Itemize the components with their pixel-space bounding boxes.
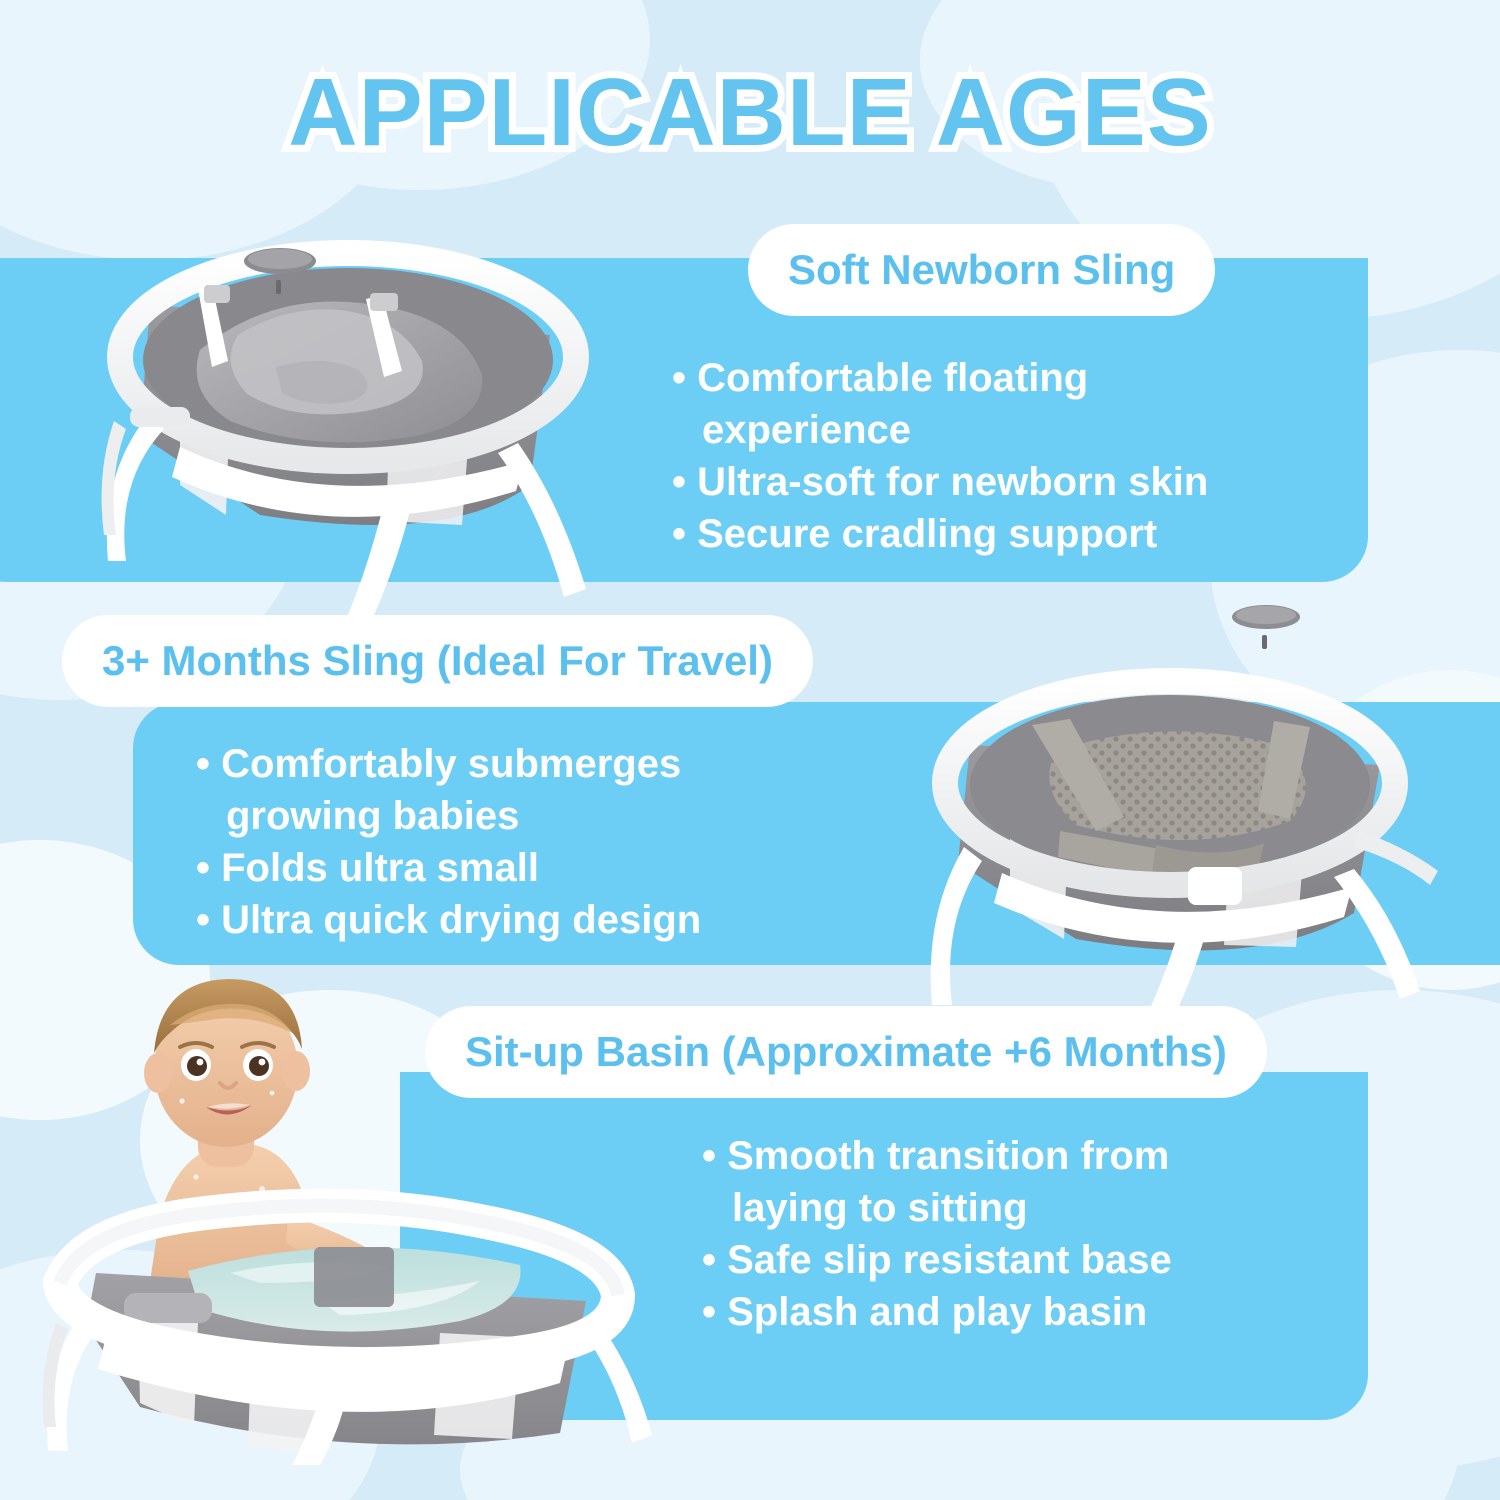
bullet-list-three-months: • Comfortably submerges growing babies •… [196, 738, 836, 946]
bullet-item: • Splash and play basin [702, 1286, 1342, 1338]
bullet-item: • Safe slip resistant base [702, 1234, 1342, 1286]
bullet-item-continuation: laying to sitting [702, 1182, 1342, 1234]
bullet-item-continuation: experience [672, 404, 1312, 456]
bullet-item: • Comfortably submerges [196, 738, 836, 790]
product-image-mesh-sling-tub [860, 595, 1480, 1025]
page-title: APPLICABLE AGES [0, 58, 1500, 168]
bullet-item: • Smooth transition from [702, 1130, 1342, 1182]
section-heading-text: Sit-up Basin (Approximate +6 Months) [465, 1028, 1227, 1076]
bullet-item-continuation: growing babies [196, 790, 836, 842]
section-heading-pill-sit-up-basin: Sit-up Basin (Approximate +6 Months) [425, 1006, 1267, 1098]
section-heading-text: Soft Newborn Sling [788, 246, 1175, 294]
section-heading-text: 3+ Months Sling (Ideal For Travel) [102, 637, 773, 685]
section-heading-pill-three-months: 3+ Months Sling (Ideal For Travel) [62, 615, 813, 707]
product-image-newborn-sling-tub [30, 185, 650, 615]
bullet-list-sit-up-basin: • Smooth transition from laying to sitti… [702, 1130, 1342, 1338]
bullet-item: • Ultra-soft for newborn skin [672, 456, 1312, 508]
section-heading-pill-newborn: Soft Newborn Sling [748, 224, 1215, 316]
bullet-item: • Ultra quick drying design [196, 894, 836, 946]
bullet-item: • Secure cradling support [672, 508, 1312, 560]
bullet-item: • Comfortable floating [672, 352, 1312, 404]
bullet-item: • Folds ultra small [196, 842, 836, 894]
bullet-list-newborn: • Comfortable floating experience • Ultr… [672, 352, 1312, 560]
